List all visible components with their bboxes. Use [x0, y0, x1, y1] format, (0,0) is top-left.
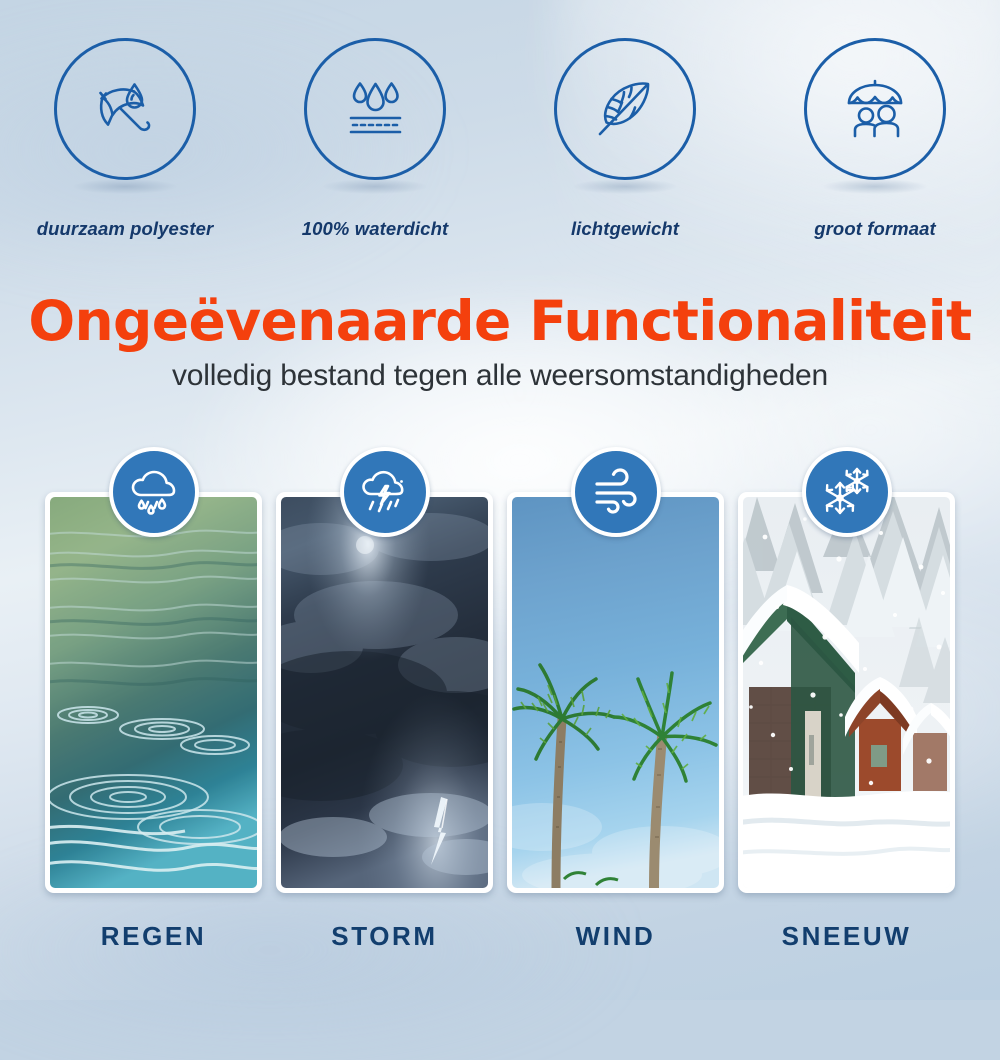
feature-icon-ring [554, 38, 696, 180]
feature-icon-ring [54, 38, 196, 180]
feature-item-duurzaam-polyester: duurzaam polyester [0, 38, 250, 240]
feature-highlights-row: duurzaam polyester 100% waterdicht [0, 38, 1000, 240]
rain-cloud-icon-badge[interactable] [109, 447, 199, 537]
photo-rippling-water-surface [50, 497, 257, 888]
photo-dark-storm-clouds-lightning [281, 497, 488, 888]
card-frame [276, 492, 493, 893]
card-title: REGEN [45, 921, 262, 952]
photo-snow-covered-cabins-forest [743, 497, 950, 888]
feature-item-100-waterdicht: 100% waterdicht [250, 38, 500, 240]
feature-icon-ring [804, 38, 946, 180]
photo-palm-trees-in-wind [512, 497, 719, 888]
waterproof-droplets-layer-icon [336, 70, 414, 148]
card-frame [507, 492, 724, 893]
feature-item-lichtgewicht: lichtgewicht [500, 38, 750, 240]
weather-card-storm[interactable]: STORM [276, 492, 493, 952]
feature-label: 100% waterdicht [302, 218, 448, 240]
card-frame [45, 492, 262, 893]
feature-label: groot formaat [814, 218, 936, 240]
thunderstorm-cloud-icon-badge[interactable] [340, 447, 430, 537]
snowflakes-icon-badge[interactable] [802, 447, 892, 537]
card-frame [738, 492, 955, 893]
wind-gust-icon-badge[interactable] [571, 447, 661, 537]
card-title: WIND [507, 921, 724, 952]
umbrella-people-icon [836, 70, 914, 148]
feature-label: lichtgewicht [571, 218, 679, 240]
feather-icon [586, 70, 664, 148]
umbrella-raindrop-icon [86, 70, 164, 148]
weather-card-regen[interactable]: REGEN [45, 492, 262, 952]
feature-label: duurzaam polyester [37, 218, 214, 240]
page-title: Ongeëvenaarde Functionaliteit [0, 292, 1000, 350]
feature-item-groot-formaat: groot formaat [750, 38, 1000, 240]
rain-cloud-icon [126, 464, 182, 520]
page-subtitle: volledig bestand tegen alle weersomstand… [0, 359, 1000, 393]
weather-card-sneeuw[interactable]: SNEEUW [738, 492, 955, 952]
headline-block: Ongeëvenaarde Functionaliteit volledig b… [0, 292, 1000, 393]
weather-cards-row: REGEN [45, 492, 955, 952]
snowflakes-icon [819, 464, 875, 520]
weather-card-wind[interactable]: WIND [507, 492, 724, 952]
card-title: SNEEUW [738, 921, 955, 952]
feature-icon-ring [304, 38, 446, 180]
card-title: STORM [276, 921, 493, 952]
thunderstorm-cloud-icon [357, 464, 413, 520]
wind-gust-icon [588, 464, 644, 520]
